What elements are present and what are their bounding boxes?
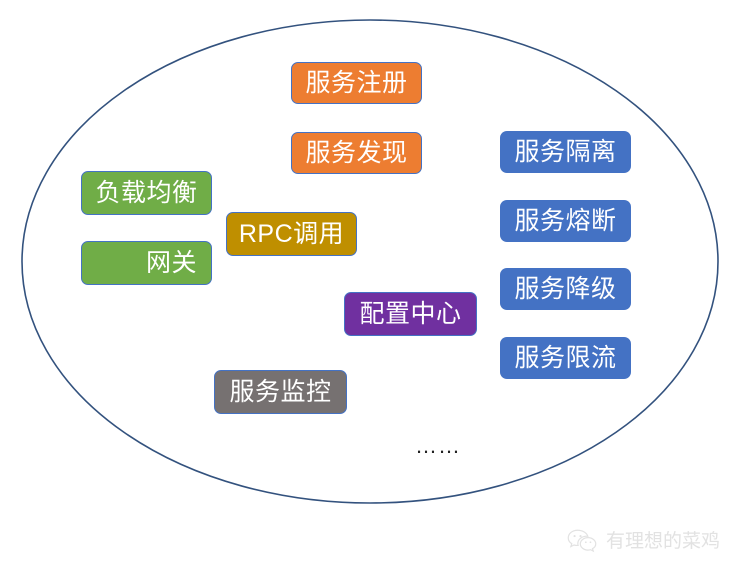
- node-service-register[interactable]: 服务注册: [291, 62, 422, 104]
- node-gateway[interactable]: 网关: [81, 241, 212, 285]
- node-label: 网关: [146, 251, 197, 276]
- node-service-isolation[interactable]: 服务隔离: [500, 131, 631, 173]
- diagram-canvas: 服务注册服务发现负载均衡网关RPC调用配置中心服务监控服务隔离服务熔断服务降级服…: [0, 0, 743, 572]
- node-service-discovery[interactable]: 服务发现: [291, 132, 422, 174]
- ellipsis-label: ……: [415, 435, 461, 457]
- node-label: 服务发现: [305, 141, 407, 166]
- node-label: RPC调用: [239, 222, 344, 247]
- node-label: 服务隔离: [514, 140, 616, 165]
- node-label: 服务监控: [229, 380, 331, 405]
- node-service-degrade[interactable]: 服务降级: [500, 268, 631, 310]
- watermark-text: 有理想的菜鸡: [606, 532, 720, 551]
- node-label: 服务限流: [514, 346, 616, 371]
- wechat-icon: [567, 528, 597, 554]
- node-service-limit[interactable]: 服务限流: [500, 337, 631, 379]
- node-service-monitor[interactable]: 服务监控: [214, 370, 347, 414]
- node-config-center[interactable]: 配置中心: [344, 292, 477, 336]
- node-label: 服务降级: [514, 277, 616, 302]
- node-rpc-call[interactable]: RPC调用: [226, 212, 357, 256]
- node-load-balance[interactable]: 负载均衡: [81, 171, 212, 215]
- watermark: 有理想的菜鸡: [567, 528, 720, 554]
- node-service-fusing[interactable]: 服务熔断: [500, 200, 631, 242]
- node-label: 服务注册: [305, 71, 407, 96]
- node-label: 负载均衡: [95, 181, 197, 206]
- node-label: 配置中心: [359, 302, 461, 327]
- node-label: 服务熔断: [514, 209, 616, 234]
